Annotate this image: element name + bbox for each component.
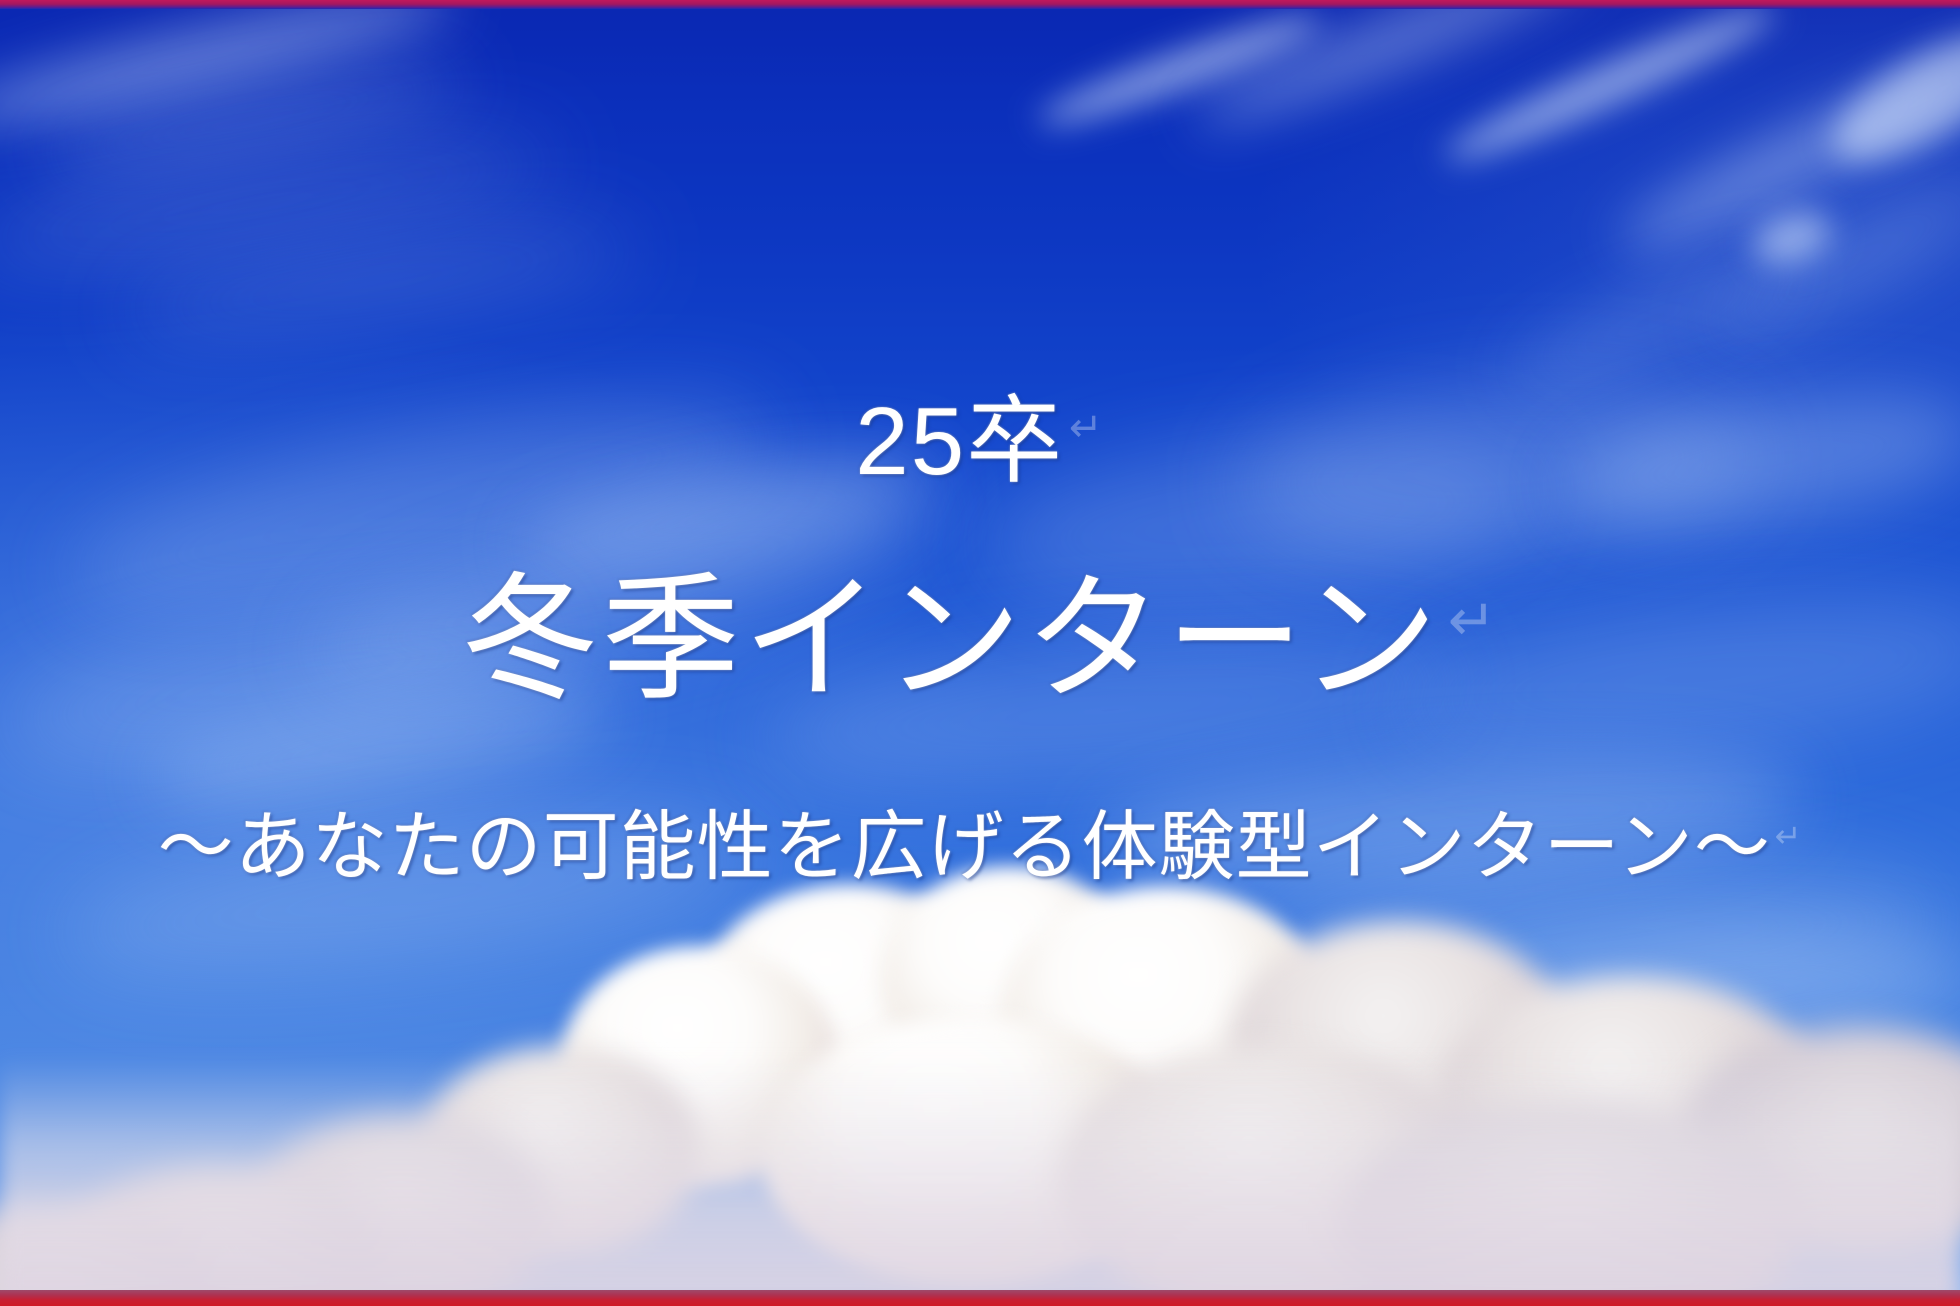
slide-line-subtitle: 〜あなたの可能性を広げる体験型インターン〜↵ [158,808,1803,888]
year-text: 25卒 [855,388,1064,495]
slide-border-top [0,0,1960,9]
presentation-slide: 25卒↵ 冬季インターン↵ 〜あなたの可能性を広げる体験型インターン〜↵ [0,0,1960,1306]
subtitle-text: 〜あなたの可能性を広げる体験型インターン〜 [158,805,1771,890]
slide-line-title: 冬季インターン↵ [461,568,1500,713]
slide-text-layer: 25卒↵ 冬季インターン↵ 〜あなたの可能性を広げる体験型インターン〜↵ [0,0,1960,1306]
paragraph-mark-icon: ↵ [1069,404,1105,450]
slide-line-year: 25卒↵ [855,392,1104,493]
paragraph-mark-icon: ↵ [1775,818,1803,854]
paragraph-mark-icon: ↵ [1448,589,1500,653]
slide-border-bottom [0,1290,1960,1306]
title-text: 冬季インターン [461,563,1441,717]
